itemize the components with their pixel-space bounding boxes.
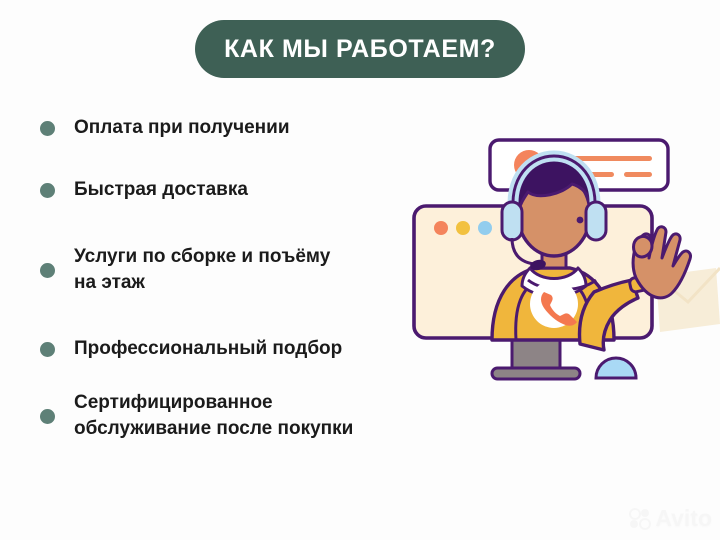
list-item-label: Профессиональный подбор [74, 336, 342, 362]
list-item-label: Оплата при получении [74, 115, 290, 141]
bullet-icon [40, 263, 55, 278]
window-dot-yellow [456, 221, 470, 235]
list-item: Услуги по сборке и поъёму на этаж [36, 228, 416, 312]
bullet-icon [40, 121, 55, 136]
list-item-label: Быстрая доставка [74, 177, 248, 203]
phone-icon [530, 280, 578, 328]
watermark-label: Avito [655, 505, 712, 532]
bullet-icon [40, 342, 55, 357]
avito-logo-icon [629, 508, 651, 530]
list-item-label: Услуги по сборке и поъёму на этаж [74, 244, 330, 296]
list-item: Быстрая доставка [36, 152, 416, 228]
avito-watermark: Avito [629, 505, 712, 532]
list-item-label: Сертифицированное обслуживание после пок… [74, 390, 353, 442]
page-title: КАК МЫ РАБОТАЕМ? [224, 35, 496, 64]
bullet-icon [40, 409, 55, 424]
features-list: Оплата при получении Быстрая доставка Ус… [36, 104, 416, 446]
list-item: Профессиональный подбор [36, 312, 416, 386]
support-agent-illustration [404, 128, 720, 388]
slide-canvas: КАК МЫ РАБОТАЕМ? Оплата при получении Бы… [0, 0, 720, 540]
bullet-icon [40, 183, 55, 198]
mouse-icon [596, 358, 636, 378]
list-item: Оплата при получении [36, 104, 416, 152]
list-item: Сертифицированное обслуживание после пок… [36, 386, 416, 446]
window-dot-orange [434, 221, 448, 235]
monitor-stand [492, 336, 580, 379]
title-banner: КАК МЫ РАБОТАЕМ? [195, 20, 525, 78]
window-dot-blue [478, 221, 492, 235]
